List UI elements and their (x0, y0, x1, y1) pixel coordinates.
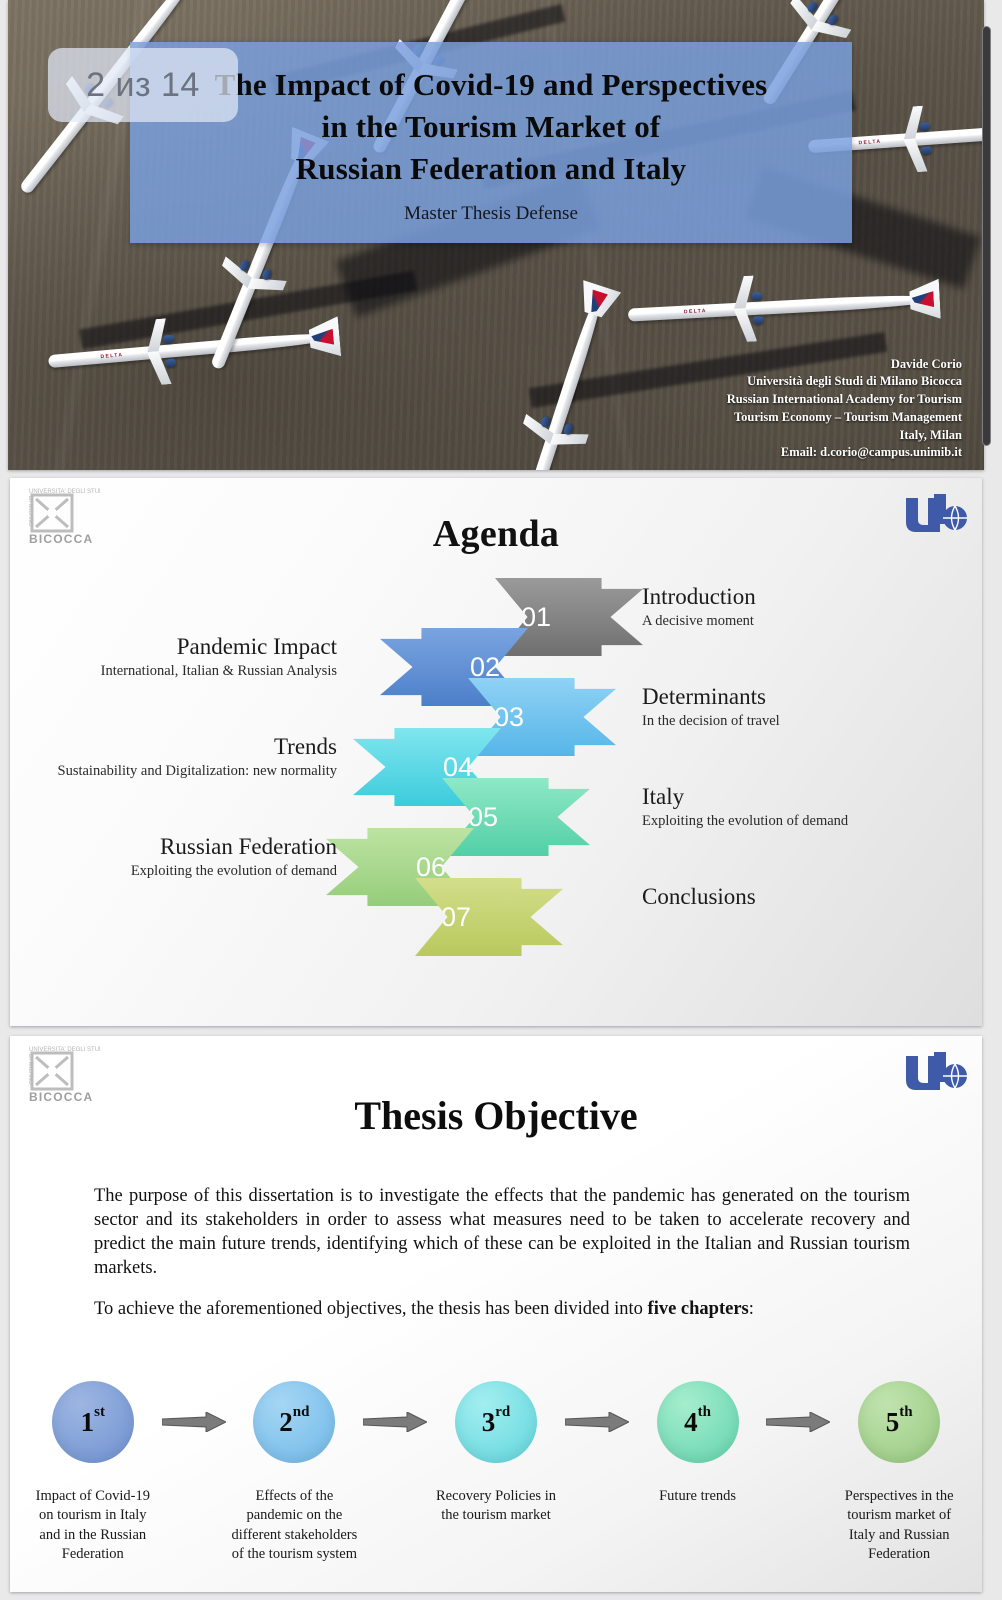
agenda-chevron-07[interactable]: 07 (415, 878, 563, 956)
agenda-row-07: 07 Conclusions (10, 878, 982, 956)
author-program: Tourism Economy – Tourism Management (727, 409, 962, 427)
riat-logo-icon (900, 1050, 968, 1094)
chapter-step-4[interactable]: 4th Future trends (633, 1381, 763, 1506)
agenda-label-russian-federation: Russian Federation Exploiting the evolut… (131, 834, 337, 880)
paragraph-2-pre: To achieve the aforementioned objectives… (94, 1299, 648, 1319)
title-line-3: Russian Federation and Italy (296, 151, 687, 186)
agenda-item-title: Determinants (642, 684, 780, 710)
right-arrow-icon (359, 1381, 431, 1463)
agenda-title: Agenda (10, 512, 982, 556)
agenda-item-title: Pandemic Impact (101, 634, 337, 660)
agenda-item-title: Russian Federation (131, 834, 337, 860)
agenda-item-title: Italy (642, 784, 848, 810)
chapter-ordinal-1: 1 (81, 1407, 95, 1438)
chapter-steps: 1st Impact of Covid-19 on tourism in Ita… (28, 1381, 964, 1564)
title-box: The Impact of Covid-19 and Perspectives … (130, 42, 852, 243)
agenda-label-determinants: Determinants In the decision of travel (642, 684, 780, 730)
agenda-number-07: 07 (441, 902, 471, 933)
right-arrow-icon (561, 1381, 633, 1463)
chapter-caption-3: Recovery Policies in the tourism market (431, 1487, 561, 1526)
vertical-scrollbar[interactable] (982, 26, 991, 446)
author-email: Email: d.corio@campus.unimib.it (727, 444, 962, 462)
agenda-diagram: 01 Introduction A decisive moment 02 Pan… (10, 578, 982, 1008)
chapter-step-1[interactable]: 1st Impact of Covid-19 on tourism in Ita… (28, 1381, 158, 1564)
chapter-caption-1: Impact of Covid-19 on tourism in Italy a… (28, 1487, 158, 1564)
svg-text:DI MILANO: DI MILANO (27, 1054, 33, 1085)
chapter-caption-4: Future trends (659, 1487, 736, 1506)
chapter-circle-1[interactable]: 1st (52, 1381, 134, 1463)
slide-title: The Impact of Covid-19 and Perspectives … (158, 64, 824, 190)
paragraph-2-post: : (749, 1299, 754, 1319)
slide-subtitle: Master Thesis Defense (158, 203, 824, 225)
page-indicator: 2 из 14 (48, 48, 238, 122)
chapter-suffix-4: th (698, 1404, 711, 1421)
title-line-1: The Impact of Covid-19 and Perspectives (215, 67, 768, 102)
right-arrow-icon (762, 1381, 834, 1463)
chapter-caption-5: Perspectives in the tourism market of It… (834, 1487, 964, 1564)
author-block: Davide Corio Università degli Studi di M… (727, 356, 962, 463)
chapter-circle-4[interactable]: 4th (657, 1381, 739, 1463)
slide-thesis-objective[interactable]: UNIVERSITA' DEGLI STUDI DI MILANO BICOCC… (10, 1036, 982, 1592)
chapter-circle-2[interactable]: 2nd (253, 1381, 335, 1463)
agenda-label-trends: Trends Sustainability and Digitalization… (58, 734, 337, 780)
chapter-step-5[interactable]: 5th Perspectives in the tourism market o… (834, 1381, 964, 1564)
objective-paragraph-2: To achieve the aforementioned objectives… (94, 1297, 910, 1321)
agenda-label-pandemic-impact: Pandemic Impact International, Italian &… (101, 634, 337, 680)
author-name: Davide Corio (727, 356, 962, 374)
chapter-ordinal-2: 2 (279, 1407, 293, 1438)
chapter-circle-3[interactable]: 3rd (455, 1381, 537, 1463)
objective-body: The purpose of this dissertation is to i… (94, 1184, 910, 1321)
chapter-suffix-3: rd (495, 1404, 510, 1421)
chapter-ordinal-5: 5 (886, 1407, 900, 1438)
chapter-ordinal-4: 4 (684, 1407, 698, 1438)
chapter-step-3[interactable]: 3rd Recovery Policies in the tourism mar… (431, 1381, 561, 1526)
chapter-circle-5[interactable]: 5th (858, 1381, 940, 1463)
slide-viewer[interactable]: DELTA DELTA DELTA (0, 0, 1002, 1600)
author-location: Italy, Milan (727, 427, 962, 445)
agenda-item-title: Trends (58, 734, 337, 760)
chapter-suffix-2: nd (293, 1404, 310, 1421)
title-line-2: in the Tourism Market of (322, 109, 661, 144)
agenda-item-title: Conclusions (642, 884, 756, 910)
agenda-label-introduction: Introduction A decisive moment (642, 584, 756, 630)
agenda-label-italy: Italy Exploiting the evolution of demand (642, 784, 848, 830)
chapter-suffix-1: st (94, 1404, 105, 1421)
agenda-label-conclusions: Conclusions (642, 884, 756, 913)
agenda-item-title: Introduction (642, 584, 756, 610)
chapter-ordinal-3: 3 (482, 1407, 496, 1438)
slide-agenda[interactable]: UNIVERSITA' DEGLI STUDI DI MILANO BICOCC… (10, 478, 982, 1026)
chapter-caption-2: Effects of the pandemic on the different… (230, 1487, 360, 1564)
chapter-suffix-5: th (899, 1404, 912, 1421)
objective-paragraph-1: The purpose of this dissertation is to i… (94, 1184, 910, 1280)
author-university: Università degli Studi di Milano Bicocca (727, 373, 962, 391)
objective-title: Thesis Objective (10, 1092, 982, 1139)
author-academy: Russian International Academy for Touris… (727, 391, 962, 409)
five-chapters-emphasis: five chapters (648, 1299, 749, 1319)
chapter-step-2[interactable]: 2nd Effects of the pandemic on the diffe… (230, 1381, 360, 1564)
right-arrow-icon (158, 1381, 230, 1463)
